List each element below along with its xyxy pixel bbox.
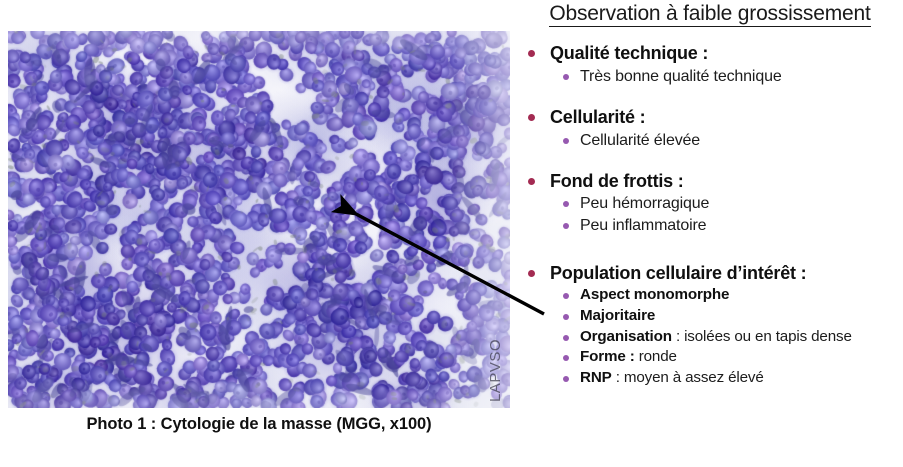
bullet-item-term: Forme : bbox=[580, 348, 635, 365]
bullet-heading-label: Qualité technique : bbox=[550, 43, 708, 63]
bullet-item: Forme : ronde bbox=[519, 347, 903, 368]
bullet-item: Majoritaire bbox=[519, 306, 903, 327]
bullet-dot-icon bbox=[528, 270, 535, 277]
photo-caption: Photo 1 : Cytologie de la masse (MGG, x1… bbox=[8, 415, 510, 434]
bullet-item-label: : isolées ou en tapis dense bbox=[672, 328, 852, 345]
bullet-item-label: Peu hémorragique bbox=[580, 195, 709, 212]
bullet-item: Très bonne qualité technique bbox=[519, 66, 903, 88]
bullet-item: Peu hémorragique bbox=[519, 193, 903, 215]
bullet-heading: Fond de frottis : bbox=[519, 170, 903, 194]
photo-watermark: LAPVSO bbox=[487, 339, 504, 402]
bullet-item-label: Cellularité élevée bbox=[580, 132, 700, 149]
bullet-heading: Cellularité : bbox=[519, 106, 903, 130]
bullet-group-2: Cellularité :Cellularité élevée bbox=[519, 106, 903, 166]
bullet-item-term: RNP bbox=[580, 369, 612, 386]
bullet-heading: Population cellulaire d’intérêt : bbox=[519, 262, 903, 286]
bullet-heading: Qualité technique : bbox=[519, 42, 903, 66]
slide-root: LAPVSO Photo 1 : Cytologie de la masse (… bbox=[0, 0, 903, 467]
bullet-heading-label: Fond de frottis : bbox=[550, 171, 684, 191]
bullet-dot-icon bbox=[563, 376, 569, 382]
page-title-text: Observation à faible grossissement bbox=[549, 2, 870, 27]
bullet-heading-label: Population cellulaire d’intérêt : bbox=[550, 263, 806, 283]
bullet-group-3: Fond de frottis :Peu hémorragiquePeu inf… bbox=[519, 170, 903, 258]
bullet-item-label: Peu inflammatoire bbox=[580, 217, 706, 234]
bullet-dot-icon bbox=[563, 138, 569, 144]
bullet-dot-icon bbox=[563, 74, 569, 80]
page-title: Observation à faible grossissement bbox=[521, 2, 899, 26]
group-spacer bbox=[519, 88, 903, 102]
group-spacer bbox=[519, 238, 903, 258]
bullet-list: Qualité technique :Très bonne qualité te… bbox=[519, 42, 903, 407]
bullet-heading-label: Cellularité : bbox=[550, 107, 645, 127]
bullet-item: Peu inflammatoire bbox=[519, 215, 903, 237]
bullet-item-term: Majoritaire bbox=[580, 307, 655, 324]
bullet-dot-icon bbox=[563, 201, 569, 207]
bullet-item-term: Aspect monomorphe bbox=[580, 286, 729, 303]
group-spacer bbox=[519, 152, 903, 166]
bullet-dot-icon bbox=[563, 223, 569, 229]
bullet-item: Organisation : isolées ou en tapis dense bbox=[519, 327, 903, 348]
bullet-item-label: ronde bbox=[635, 348, 677, 365]
bullet-dot-icon bbox=[528, 50, 535, 57]
bullet-item: RNP : moyen à assez élevé bbox=[519, 368, 903, 389]
bullet-group-4: Population cellulaire d’intérêt :Aspect … bbox=[519, 262, 903, 403]
bullet-group-1: Qualité technique :Très bonne qualité te… bbox=[519, 42, 903, 102]
cytology-photo: LAPVSO bbox=[8, 31, 510, 408]
bullet-item: Cellularité élevée bbox=[519, 130, 903, 152]
bullet-item-label: Très bonne qualité technique bbox=[580, 68, 782, 85]
bullet-dot-icon bbox=[563, 355, 569, 361]
bullet-dot-icon bbox=[563, 335, 569, 341]
bullet-dot-icon bbox=[563, 293, 569, 299]
bullet-dot-icon bbox=[528, 114, 535, 121]
bullet-dot-icon bbox=[528, 178, 535, 185]
group-spacer bbox=[519, 389, 903, 403]
cytology-photo-canvas bbox=[8, 31, 510, 408]
bullet-item-term: Organisation bbox=[580, 328, 672, 345]
bullet-item: Aspect monomorphe bbox=[519, 285, 903, 306]
bullet-dot-icon bbox=[563, 314, 569, 320]
bullet-item-label: : moyen à assez élevé bbox=[612, 369, 764, 386]
